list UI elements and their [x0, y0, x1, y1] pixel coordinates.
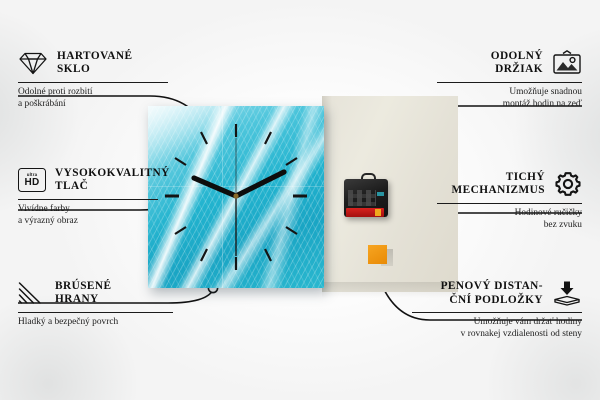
feature-tempered-glass: HARTOVANÉ SKLO Odolné proti rozbití a po… [18, 50, 178, 110]
feature-desc: Umožňuje snadnou montáž hodin na zeď [437, 87, 582, 111]
divider [18, 312, 173, 313]
divider [18, 199, 158, 200]
mechanism-label [348, 190, 376, 206]
feature-ground-edges: BRÚSENÉ HRANY Hladký a bezpečný povrch [18, 280, 183, 329]
feature-title: TICHÝ MECHANIZMUS [452, 171, 545, 198]
divider [412, 312, 582, 313]
feature-desc: Hodinové ručičky bez zvuku [437, 208, 582, 232]
feature-title: BRÚSENÉ HRANY [55, 280, 112, 307]
feature-desc: Vivídne farby a výrazný obraz [18, 204, 178, 228]
foam-pad [368, 245, 387, 264]
divider [437, 203, 582, 204]
ground-edges-icon [18, 281, 46, 305]
battery [346, 208, 384, 217]
clock-mechanism [344, 173, 388, 217]
feature-foam-spacers: PENOVÝ DISTAN- ČNÍ PODLOŽKY Umožňuje vám… [412, 280, 582, 341]
feature-title: ODOLNÝ DRŽIAK [491, 50, 543, 77]
divider [18, 82, 168, 83]
feature-hd-print: ultra HD VYSOKOKVALITNÝ TLAČ Vivídne far… [18, 167, 178, 227]
ultra-hd-icon: ultra HD [18, 168, 46, 192]
divider [437, 82, 582, 83]
feature-desc: Odolné proti rozbití a poškrábání [18, 87, 178, 111]
gear-icon [554, 170, 582, 198]
picture-hanger-icon [552, 50, 582, 76]
diamond-icon [18, 51, 48, 76]
feature-title: HARTOVANÉ SKLO [57, 50, 132, 77]
feature-desc: Hladký a bezpečný povrch [18, 317, 183, 329]
feature-title: PENOVÝ DISTAN- ČNÍ PODLOŽKY [441, 280, 543, 307]
mechanism-teal-mark [377, 192, 384, 196]
badge-hd-label: HD [24, 178, 39, 188]
feature-title: VYSOKOKVALITNÝ TLAČ [55, 167, 170, 194]
foam-spacer-icon [552, 280, 582, 307]
feature-silent-mechanism: TICHÝ MECHANIZMUS Hodinové ručičky bez z… [437, 170, 582, 232]
infographic-canvas: HARTOVANÉ SKLO Odolné proti rozbití a po… [0, 0, 600, 400]
feature-durable-hanger: ODOLNÝ DRŽIAK Umožňuje snadnou montáž ho… [437, 50, 582, 110]
feature-desc: Umožňuje vám držať hodiny v rovnakej vzd… [412, 317, 582, 341]
mechanism-body [344, 179, 388, 217]
